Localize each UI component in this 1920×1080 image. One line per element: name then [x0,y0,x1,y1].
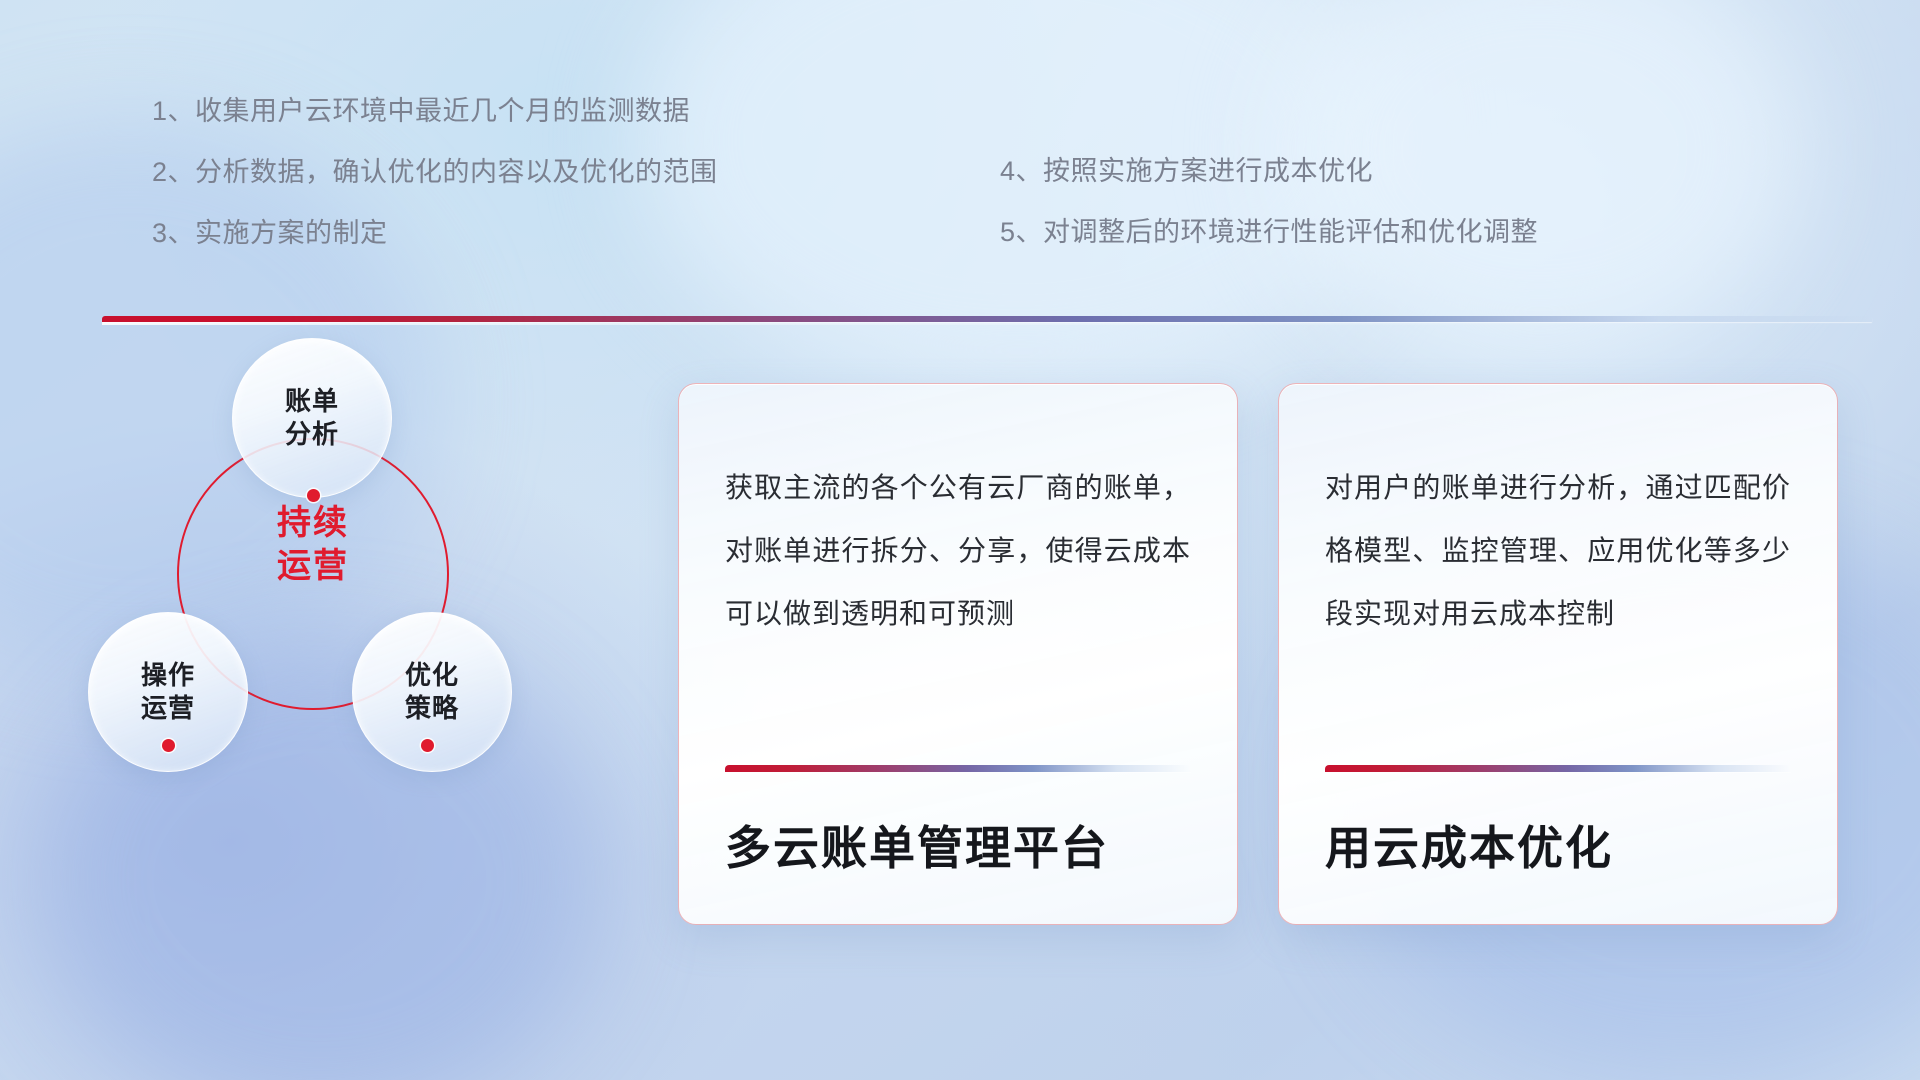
step-item-3: 3、实施方案的制定 [152,220,718,247]
steps-right-column: 4、按照实施方案进行成本优化 5、对调整后的环境进行性能评估和优化调整 [1000,158,1538,280]
card-cloud-cost-optimization-divider [1325,765,1791,772]
bubble-bill-analysis-line1: 账单 [285,385,339,418]
slide-canvas: 1、收集用户云环境中最近几个月的监测数据 2、分析数据，确认优化的内容以及优化的… [0,0,1920,1080]
card-cloud-cost-optimization-body: 对用户的账单进行分析，通过匹配价格模型、监控管理、应用优化等多少段实现对用云成本… [1325,456,1791,645]
diagram-center-label: 持续 运营 [235,502,391,588]
bubble-operations-label: 操作 运营 [141,659,195,726]
bubble-optimization-strategy-line2: 策略 [405,692,459,725]
step-item-1: 1、收集用户云环境中最近几个月的监测数据 [152,98,718,125]
bubble-operations-line1: 操作 [141,659,195,692]
bubble-bill-analysis-line2: 分析 [285,418,339,451]
steps-left-column: 1、收集用户云环境中最近几个月的监测数据 2、分析数据，确认优化的内容以及优化的… [152,98,718,281]
bubble-bill-analysis[interactable]: 账单 分析 [232,338,392,498]
bubble-operations-line2: 运营 [141,692,195,725]
step-item-5: 5、对调整后的环境进行性能评估和优化调整 [1000,219,1538,246]
diagram-center-line1: 持续 [235,502,391,545]
step-item-2: 2、分析数据，确认优化的内容以及优化的范围 [152,159,718,186]
card-multi-cloud-billing[interactable]: 获取主流的各个公有云厂商的账单，对账单进行拆分、分享，使得云成本可以做到透明和可… [678,383,1238,925]
card-multi-cloud-billing-body: 获取主流的各个公有云厂商的账单，对账单进行拆分、分享，使得云成本可以做到透明和可… [725,456,1191,645]
bubble-bill-analysis-label: 账单 分析 [285,385,339,452]
card-multi-cloud-billing-title: 多云账单管理平台 [725,772,1191,924]
step-item-4: 4、按照实施方案进行成本优化 [1000,158,1538,185]
diagram-center-line2: 运营 [235,545,391,588]
bubble-optimization-strategy-label: 优化 策略 [405,659,459,726]
card-multi-cloud-billing-divider [725,765,1191,772]
bubble-optimization-strategy-line1: 优化 [405,659,459,692]
node-dot-right-icon [421,739,434,752]
node-dot-top-icon [307,489,320,502]
card-cloud-cost-optimization-title: 用云成本优化 [1325,772,1791,924]
continuous-operation-diagram: 账单 分析 操作 运营 优化 策略 持续 运营 [80,350,550,870]
header-divider-rule [102,316,1872,322]
node-dot-left-icon [162,739,175,752]
card-cloud-cost-optimization[interactable]: 对用户的账单进行分析，通过匹配价格模型、监控管理、应用优化等多少段实现对用云成本… [1278,383,1838,925]
